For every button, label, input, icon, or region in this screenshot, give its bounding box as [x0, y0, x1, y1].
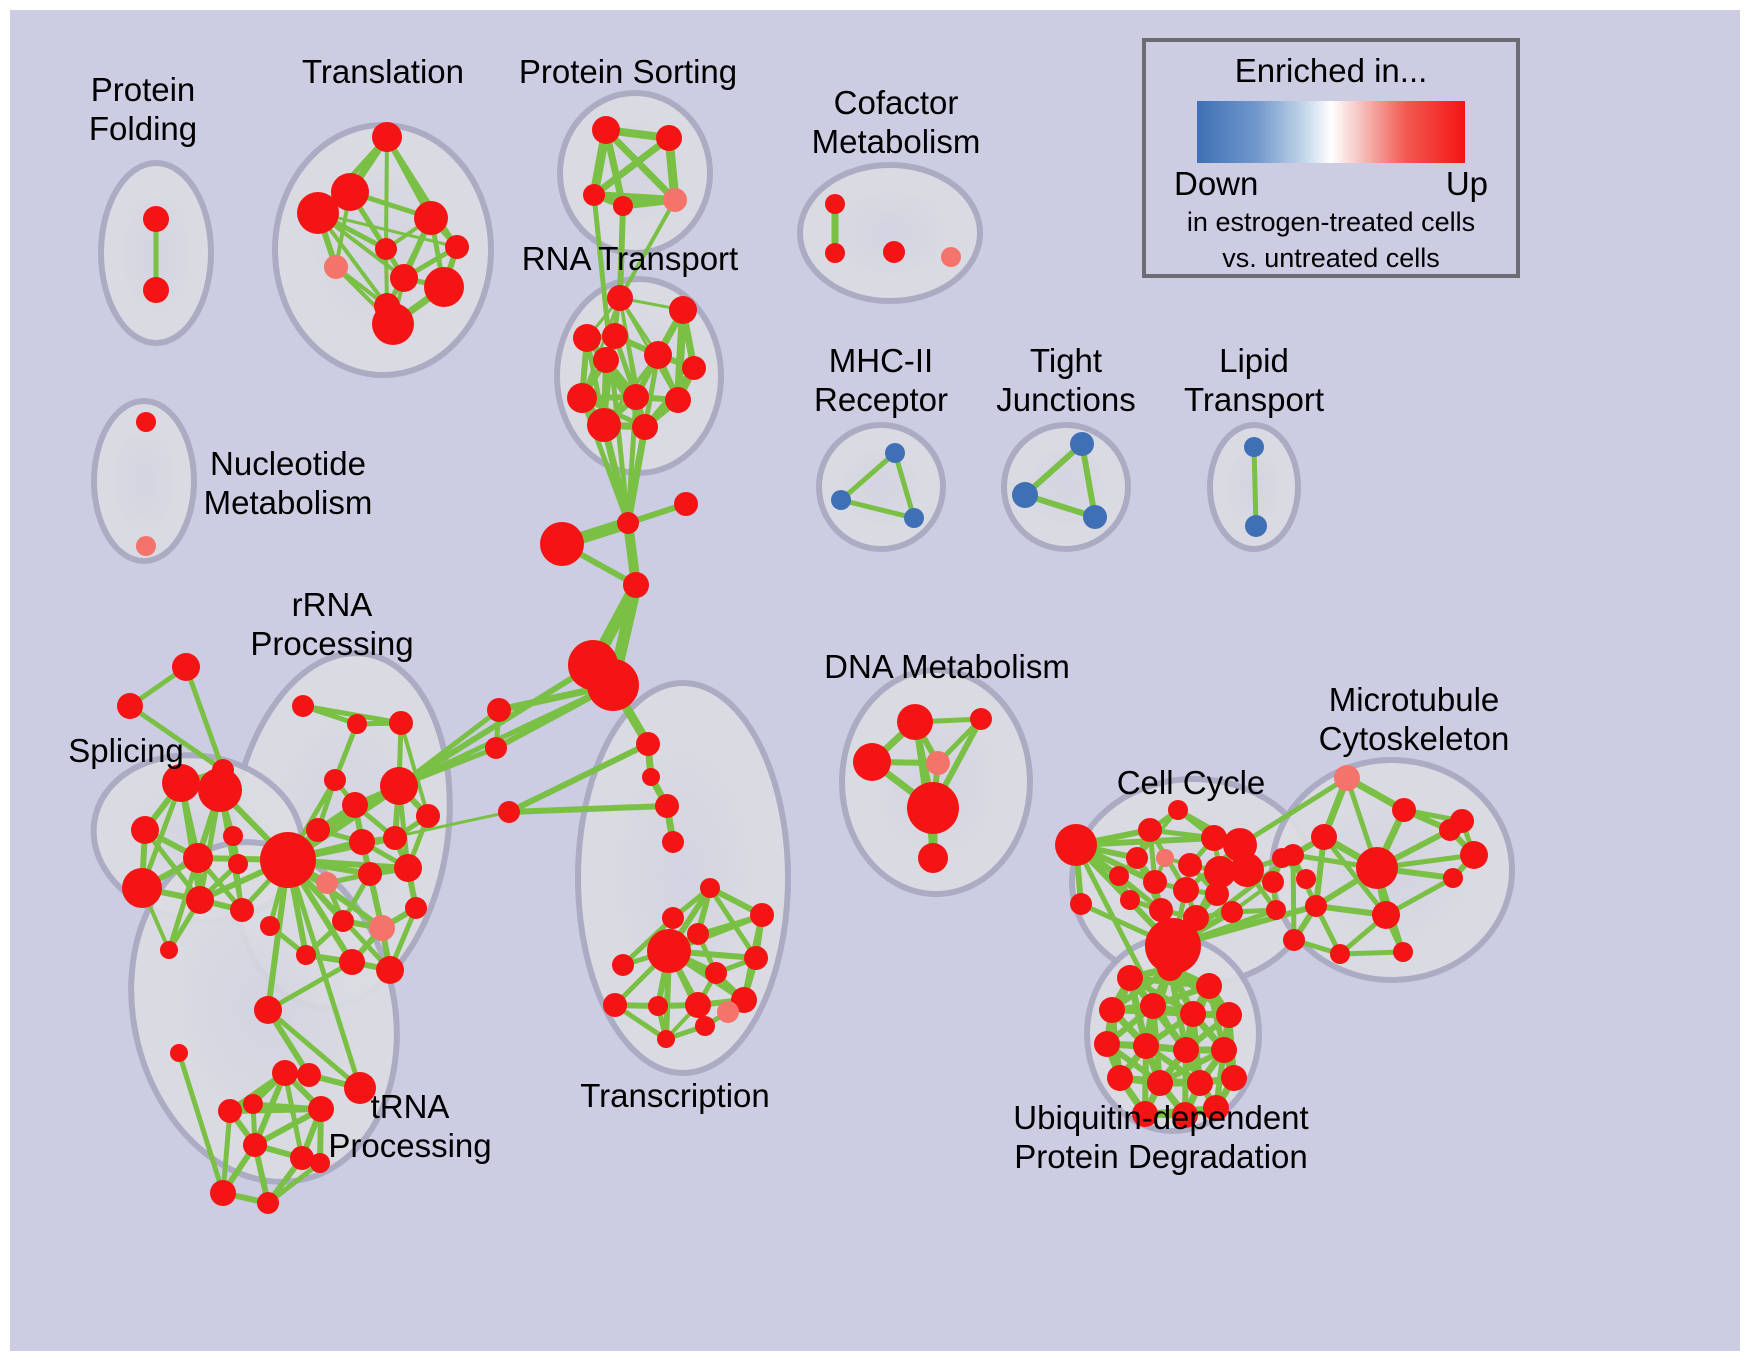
- node-ubiquitin-9[interactable]: [1173, 1037, 1199, 1063]
- node-mhc-ii-receptor-2[interactable]: [904, 508, 924, 528]
- node-splicing-5[interactable]: [131, 816, 159, 844]
- cluster-label-microtubule-cytoskeleton: Microtubule Cytoskeleton: [1319, 680, 1510, 758]
- node-protein-sorting-1[interactable]: [656, 125, 682, 151]
- node-microtubule-11[interactable]: [1330, 944, 1350, 964]
- node-cell-cycle-6[interactable]: [1126, 847, 1148, 869]
- node-cell-cycle-10[interactable]: [1109, 866, 1129, 886]
- legend-low-label: Down: [1174, 165, 1258, 203]
- cluster-label-trna-processing: tRNA Processing: [328, 1087, 491, 1165]
- node-rrna-processing-14[interactable]: [332, 910, 354, 932]
- node-rrna-processing-13[interactable]: [394, 854, 422, 882]
- node-cell-cycle-13[interactable]: [1205, 882, 1229, 906]
- edge-translation: [386, 137, 387, 249]
- bridge-node-c[interactable]: [498, 801, 520, 823]
- node-ubiquitin-3[interactable]: [1099, 997, 1125, 1023]
- node-ubiquitin-7[interactable]: [1094, 1031, 1120, 1057]
- node-translation-5[interactable]: [375, 238, 397, 260]
- node-microtubule-6[interactable]: [1443, 868, 1463, 888]
- node-mhc-ii-receptor-0[interactable]: [885, 443, 905, 463]
- node-protein-sorting-0[interactable]: [592, 116, 620, 144]
- node-nucleotide-metabolism-1[interactable]: [136, 536, 156, 556]
- node-transcription-11[interactable]: [657, 1030, 675, 1048]
- node-rna-transport-9[interactable]: [665, 387, 691, 413]
- node-splicing-4[interactable]: [198, 768, 242, 812]
- node-microtubule-7[interactable]: [1372, 901, 1400, 929]
- node-cell-cycle-19[interactable]: [1221, 901, 1243, 923]
- node-bridge-chain-6[interactable]: [636, 732, 660, 756]
- node-protein-folding-0[interactable]: [143, 206, 169, 232]
- node-transcription-10[interactable]: [603, 993, 627, 1017]
- node-cell-cycle-12[interactable]: [1173, 877, 1199, 903]
- cluster-label-rna-transport: RNA Transport: [522, 239, 738, 278]
- node-rna-transport-11[interactable]: [632, 414, 658, 440]
- node-microtubule-10[interactable]: [1283, 929, 1305, 951]
- node-rrna-processing-17[interactable]: [260, 916, 280, 936]
- node-transcription-2[interactable]: [687, 923, 709, 945]
- node-cofactor-metabolism-0[interactable]: [825, 194, 845, 214]
- node-cell-cycle-5[interactable]: [1156, 849, 1174, 867]
- node-cell-cycle-9[interactable]: [1230, 853, 1264, 887]
- node-ubiquitin-8[interactable]: [1133, 1033, 1159, 1059]
- node-dna-metabolism-4[interactable]: [907, 782, 959, 834]
- cluster-label-transcription: Transcription: [580, 1076, 770, 1115]
- node-ubiquitin-14[interactable]: [1221, 1065, 1247, 1091]
- node-translation-0[interactable]: [372, 122, 402, 152]
- node-cell-cycle-21[interactable]: [1070, 893, 1092, 915]
- node-ubiquitin-2[interactable]: [1196, 973, 1222, 999]
- node-cell-cycle-23[interactable]: [1296, 869, 1316, 889]
- node-bridge-chain-1[interactable]: [674, 492, 698, 516]
- node-dna-metabolism-0[interactable]: [897, 704, 933, 740]
- node-cell-cycle-22[interactable]: [1266, 900, 1286, 920]
- node-ubiquitin-4[interactable]: [1140, 993, 1166, 1019]
- cluster-label-lipid-transport: Lipid Transport: [1184, 341, 1324, 419]
- legend-box: Enriched in... Down Up in estrogen-treat…: [1142, 38, 1520, 278]
- node-tight-junctions-2[interactable]: [1083, 505, 1107, 529]
- node-translation-6[interactable]: [390, 264, 418, 292]
- node-ubiquitin-0[interactable]: [1117, 965, 1143, 991]
- node-trna-processing-8[interactable]: [310, 1153, 330, 1173]
- node-trna-processing-9[interactable]: [243, 1094, 263, 1114]
- node-transcription-5[interactable]: [705, 962, 727, 984]
- node-ubiquitin-1[interactable]: [1157, 955, 1183, 981]
- hull-protein-sorting: [560, 93, 710, 253]
- node-bridge-chain-0[interactable]: [617, 512, 639, 534]
- node-protein-sorting-4[interactable]: [663, 188, 687, 212]
- node-transcription-12[interactable]: [695, 1016, 715, 1036]
- legend-high-label: Up: [1446, 165, 1488, 203]
- node-protein-sorting-2[interactable]: [583, 184, 605, 206]
- node-ubiquitin-5[interactable]: [1180, 1001, 1206, 1027]
- node-bridge-chain-3[interactable]: [623, 572, 649, 598]
- node-splicing-0[interactable]: [117, 693, 143, 719]
- hull-mhc: [819, 425, 943, 549]
- node-protein-sorting-3[interactable]: [613, 196, 633, 216]
- node-rna-transport-5[interactable]: [644, 341, 672, 369]
- node-rrna-processing-20[interactable]: [376, 956, 404, 984]
- node-splicing-1[interactable]: [172, 653, 200, 681]
- node-transcription-6[interactable]: [744, 946, 768, 970]
- node-rrna-processing-11[interactable]: [416, 804, 440, 828]
- node-ubiquitin-11[interactable]: [1107, 1065, 1133, 1091]
- cluster-label-translation: Translation: [302, 52, 464, 91]
- node-rna-transport-6[interactable]: [682, 356, 706, 380]
- node-transcription-14[interactable]: [612, 954, 634, 976]
- node-bridge-chain-5[interactable]: [587, 659, 639, 711]
- node-rrna-processing-9[interactable]: [349, 829, 375, 855]
- node-nucleotide-metabolism-0[interactable]: [136, 412, 156, 432]
- node-trna-processing-0[interactable]: [170, 1044, 188, 1062]
- cluster-label-mhc-ii-receptor: MHC-II Receptor: [814, 341, 948, 419]
- node-splicing-12[interactable]: [160, 941, 178, 959]
- node-microtubule-2[interactable]: [1311, 824, 1337, 850]
- node-cell-cycle-11[interactable]: [1143, 870, 1167, 894]
- node-splicing-11[interactable]: [223, 826, 243, 846]
- node-lipid-transport-0[interactable]: [1244, 437, 1264, 457]
- node-ubiquitin-10[interactable]: [1211, 1037, 1237, 1063]
- node-microtubule-9[interactable]: [1450, 809, 1474, 833]
- edge-lipid-transport: [1254, 447, 1256, 526]
- node-protein-folding-1[interactable]: [143, 277, 169, 303]
- node-rrna-processing-3[interactable]: [389, 711, 413, 735]
- node-trna-processing-2[interactable]: [272, 1060, 298, 1086]
- node-trna-processing-6[interactable]: [210, 1180, 236, 1206]
- node-bridge-chain-2[interactable]: [540, 522, 584, 566]
- node-cell-cycle-2[interactable]: [1168, 800, 1188, 820]
- node-lipid-transport-1[interactable]: [1245, 515, 1267, 537]
- node-rrna-processing-2[interactable]: [347, 714, 367, 734]
- node-rrna-processing-7[interactable]: [380, 767, 418, 805]
- node-mhc-ii-receptor-1[interactable]: [831, 490, 851, 510]
- edge-microtubule: [1293, 855, 1294, 940]
- node-ubiquitin-12[interactable]: [1147, 1070, 1173, 1096]
- node-translation-9[interactable]: [424, 267, 464, 307]
- cluster-label-protein-sorting: Protein Sorting: [519, 52, 737, 91]
- node-translation-4[interactable]: [445, 235, 469, 259]
- node-trna-processing-4[interactable]: [243, 1133, 267, 1157]
- node-transcription-9[interactable]: [648, 996, 668, 1016]
- node-translation-2[interactable]: [414, 201, 448, 235]
- node-transcription-1[interactable]: [750, 903, 774, 927]
- node-splicing-8[interactable]: [122, 868, 162, 908]
- node-transcription-3[interactable]: [662, 907, 684, 929]
- node-rrna-processing-6[interactable]: [342, 792, 368, 818]
- node-cell-cycle-3[interactable]: [1201, 825, 1227, 851]
- hull-cofactor: [800, 165, 980, 301]
- node-cofactor-metabolism-1[interactable]: [825, 243, 845, 263]
- node-microtubule-4[interactable]: [1356, 847, 1398, 889]
- node-rrna-processing-10[interactable]: [383, 826, 407, 850]
- node-microtubule-1[interactable]: [1392, 798, 1416, 822]
- node-microtubule-3[interactable]: [1282, 844, 1304, 866]
- node-ubiquitin-6[interactable]: [1216, 1002, 1242, 1028]
- node-rna-transport-4[interactable]: [593, 347, 619, 373]
- node-rna-transport-10[interactable]: [587, 408, 621, 442]
- node-rrna-processing-15[interactable]: [369, 915, 395, 941]
- node-rna-transport-3[interactable]: [602, 323, 628, 349]
- node-microtubule-12[interactable]: [1393, 942, 1413, 962]
- node-rrna-processing-8[interactable]: [316, 872, 338, 894]
- node-rna-transport-0[interactable]: [607, 285, 633, 311]
- node-rrna-processing-4[interactable]: [260, 832, 316, 888]
- node-bridge-chain-7[interactable]: [642, 768, 660, 786]
- network-canvas: Protein FoldingTranslationProtein Sortin…: [10, 10, 1740, 1351]
- node-trna-processing-1[interactable]: [218, 1099, 242, 1123]
- node-rrna-processing-18[interactable]: [296, 945, 316, 965]
- node-rrna-processing-5[interactable]: [306, 818, 330, 842]
- cluster-label-splicing: Splicing: [68, 731, 184, 770]
- node-splicing-9[interactable]: [186, 886, 214, 914]
- node-tight-junctions-1[interactable]: [1012, 482, 1038, 508]
- node-dna-metabolism-3[interactable]: [926, 751, 950, 775]
- cluster-label-dna-metabolism: DNA Metabolism: [824, 647, 1070, 686]
- node-rna-transport-1[interactable]: [669, 296, 697, 324]
- node-dna-metabolism-1[interactable]: [970, 708, 992, 730]
- node-cell-cycle-14[interactable]: [1262, 871, 1284, 893]
- node-cofactor-metabolism-3[interactable]: [941, 247, 961, 267]
- node-dna-metabolism-5[interactable]: [918, 843, 948, 873]
- node-transcription-8[interactable]: [685, 992, 711, 1018]
- legend-title: Enriched in...: [1146, 52, 1516, 90]
- node-cofactor-metabolism-2[interactable]: [883, 241, 905, 263]
- node-splicing-10[interactable]: [230, 898, 254, 922]
- node-rrna-processing-1[interactable]: [292, 695, 314, 717]
- node-dna-metabolism-2[interactable]: [853, 743, 891, 781]
- node-rna-transport-7[interactable]: [567, 383, 597, 413]
- node-bridge-chain-8[interactable]: [655, 794, 679, 818]
- node-tight-junctions-0[interactable]: [1070, 432, 1094, 456]
- cluster-label-protein-folding: Protein Folding: [89, 70, 197, 148]
- node-rna-transport-2[interactable]: [573, 324, 601, 352]
- node-rrna-processing-16[interactable]: [405, 897, 427, 919]
- cluster-label-rrna-processing: rRNA Processing: [250, 585, 413, 663]
- legend-caption-line-1: in estrogen-treated cells: [1146, 206, 1516, 239]
- node-translation-10[interactable]: [372, 303, 414, 345]
- node-transcription-13[interactable]: [717, 1001, 739, 1023]
- cluster-label-ubiquitin-protein-degradation: Ubiquitin-dependent Protein Degradation: [1013, 1098, 1308, 1176]
- node-translation-7[interactable]: [324, 255, 348, 279]
- legend-caption-line-2: vs. untreated cells: [1146, 242, 1516, 275]
- node-microtubule-13[interactable]: [1460, 841, 1488, 869]
- node-rrna-processing-12[interactable]: [358, 862, 382, 886]
- cluster-label-cell-cycle: Cell Cycle: [1117, 763, 1266, 802]
- node-cell-cycle-16[interactable]: [1120, 890, 1140, 910]
- node-rrna-processing-21[interactable]: [254, 996, 282, 1024]
- node-transcription-0[interactable]: [700, 878, 720, 898]
- node-splicing-6[interactable]: [183, 843, 213, 873]
- node-bridge-chain-9[interactable]: [662, 831, 684, 853]
- bridge-node-a[interactable]: [487, 698, 511, 722]
- cluster-label-tight-junctions: Tight Junctions: [996, 341, 1135, 419]
- cluster-label-cofactor-metabolism: Cofactor Metabolism: [812, 83, 981, 161]
- node-rrna-processing-0[interactable]: [324, 769, 346, 791]
- node-transcription-4[interactable]: [647, 929, 691, 973]
- figure-stage: Protein FoldingTranslationProtein Sortin…: [0, 0, 1750, 1360]
- node-ubiquitin-13[interactable]: [1187, 1070, 1213, 1096]
- node-rna-transport-8[interactable]: [623, 384, 649, 410]
- node-cell-cycle-1[interactable]: [1138, 818, 1162, 842]
- node-translation-3[interactable]: [297, 192, 339, 234]
- node-microtubule-0[interactable]: [1334, 765, 1360, 791]
- node-splicing-7[interactable]: [228, 854, 248, 874]
- node-microtubule-8[interactable]: [1305, 895, 1327, 917]
- node-trna-processing-7[interactable]: [257, 1192, 279, 1214]
- node-cell-cycle-0[interactable]: [1055, 824, 1097, 866]
- cluster-label-nucleotide-metabolism: Nucleotide Metabolism: [204, 444, 373, 522]
- node-trna-processing-5[interactable]: [290, 1146, 314, 1170]
- node-rrna-processing-22[interactable]: [297, 1063, 321, 1087]
- bridge-node-b[interactable]: [485, 737, 507, 759]
- legend-color-bar: [1197, 101, 1465, 163]
- node-rrna-processing-19[interactable]: [339, 949, 365, 975]
- node-cell-cycle-7[interactable]: [1178, 853, 1202, 877]
